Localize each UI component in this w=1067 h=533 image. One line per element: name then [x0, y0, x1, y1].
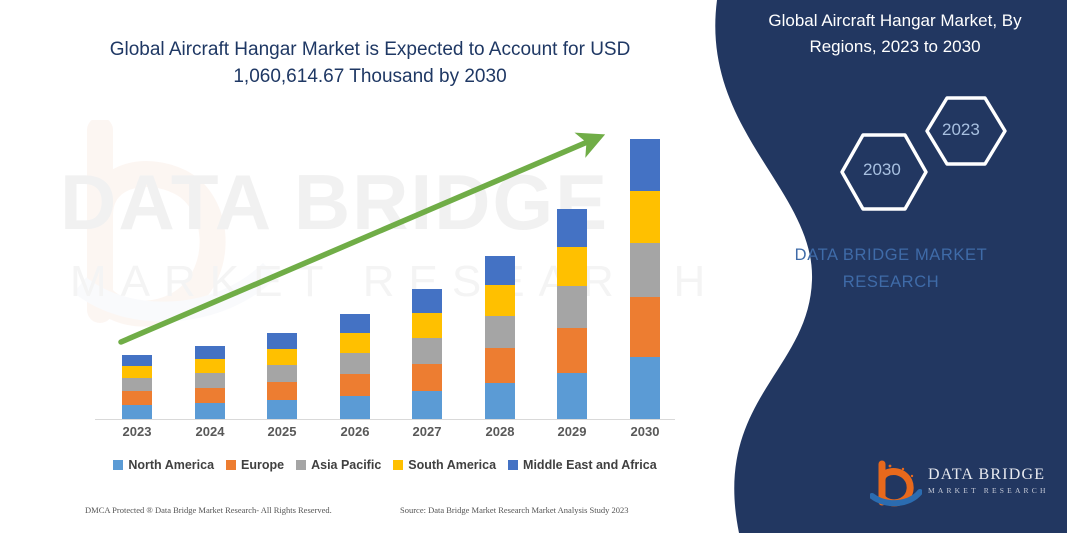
infographic-root: DATA BRIDGE MARKET RESEARCH Global Aircr…: [0, 0, 1067, 533]
brand-line-1: DATA BRIDGE MARKET: [795, 246, 988, 264]
bar-segment: [267, 382, 297, 400]
bar-segment: [485, 256, 515, 286]
chart-title: Global Aircraft Hangar Market is Expecte…: [60, 36, 680, 90]
logo-wordmark: DATA BRIDGE MARKET RESEARCH: [928, 466, 1049, 495]
hexagon-badges: 2023 2030: [825, 90, 1025, 220]
bar-segment: [557, 209, 587, 247]
legend-label: Middle East and Africa: [523, 458, 657, 472]
bar-segment: [557, 373, 587, 419]
bar-segment: [485, 383, 515, 419]
bar-segment: [195, 388, 225, 403]
bar-segment: [267, 400, 297, 419]
bar-segment: [340, 314, 370, 333]
bar-segment: [412, 289, 442, 313]
bar-group-2029: [557, 209, 587, 419]
bar-segment: [267, 349, 297, 365]
bar-segment: [340, 374, 370, 396]
chart-plot-area: [95, 120, 675, 420]
legend-swatch-icon: [393, 460, 403, 470]
bar-segment: [340, 396, 370, 419]
bar-segment: [195, 373, 225, 388]
x-axis-label-2028: 2028: [470, 424, 530, 439]
hexagon-outlines-icon: [825, 90, 1025, 220]
x-axis-label-2027: 2027: [397, 424, 457, 439]
right-panel-content: Global Aircraft Hangar Market, By Region…: [715, 0, 1067, 533]
bar-segment: [195, 359, 225, 373]
bar-segment: [412, 313, 442, 338]
bar-segment: [340, 333, 370, 353]
bar-segment: [122, 405, 152, 419]
bar-segment: [557, 286, 587, 328]
legend-label: Asia Pacific: [311, 458, 381, 472]
footer-copyright: DMCA Protected ® Data Bridge Market Rese…: [85, 505, 332, 515]
bar-segment: [195, 346, 225, 359]
legend-label: Europe: [241, 458, 284, 472]
bar-segment: [122, 355, 152, 366]
footer-source: Source: Data Bridge Market Research Mark…: [400, 505, 629, 515]
bar-segment: [630, 357, 660, 419]
legend-label: South America: [408, 458, 496, 472]
bar-segment: [412, 364, 442, 391]
legend-label: North America: [128, 458, 214, 472]
x-axis-label-2026: 2026: [325, 424, 385, 439]
bar-segment: [630, 191, 660, 243]
legend-item[interactable]: Middle East and Africa: [508, 458, 657, 472]
x-axis-label-2023: 2023: [107, 424, 167, 439]
bar-segment: [122, 391, 152, 405]
bar-group-2023: [122, 355, 152, 419]
bar-segment: [412, 338, 442, 364]
x-axis-line: [95, 419, 675, 420]
legend-swatch-icon: [296, 460, 306, 470]
bar-segment: [557, 247, 587, 287]
x-axis-label-2025: 2025: [252, 424, 312, 439]
bar-group-2028: [485, 256, 515, 419]
legend-item[interactable]: North America: [113, 458, 214, 472]
bar-segment: [485, 316, 515, 348]
bar-segment: [122, 378, 152, 391]
x-axis-labels: 20232024202520262027202820292030: [95, 424, 675, 444]
bar-group-2027: [412, 289, 442, 419]
bar-segment: [485, 285, 515, 316]
x-axis-label-2029: 2029: [542, 424, 602, 439]
bar-segment: [195, 403, 225, 419]
legend-swatch-icon: [226, 460, 236, 470]
legend-item[interactable]: Asia Pacific: [296, 458, 381, 472]
logo-line-1: DATA BRIDGE: [928, 466, 1049, 484]
chart-legend: North AmericaEuropeAsia PacificSouth Ame…: [95, 455, 675, 475]
bar-group-2026: [340, 314, 370, 419]
logo-bridge-b-icon: [870, 460, 922, 508]
bar-group-2030: [630, 139, 660, 419]
legend-swatch-icon: [508, 460, 518, 470]
left-chart-panel: DATA BRIDGE MARKET RESEARCH Global Aircr…: [0, 0, 740, 533]
footer-bar: DMCA Protected ® Data Bridge Market Rese…: [0, 505, 700, 525]
bar-segment: [267, 365, 297, 382]
logo-line-2: MARKET RESEARCH: [928, 486, 1049, 495]
brand-line-2: RESEARCH: [741, 269, 1041, 296]
legend-item[interactable]: South America: [393, 458, 496, 472]
legend-swatch-icon: [113, 460, 123, 470]
x-axis-label-2024: 2024: [180, 424, 240, 439]
bar-segment: [122, 366, 152, 378]
bar-segment: [412, 391, 442, 419]
bar-segment: [630, 139, 660, 191]
right-panel-title: Global Aircraft Hangar Market, By Region…: [735, 8, 1055, 60]
bar-group-2024: [195, 346, 225, 419]
brand-wordmark: DATA BRIDGE MARKET RESEARCH: [741, 242, 1041, 296]
bar-segment: [630, 243, 660, 298]
bar-series-container: [95, 120, 675, 419]
bar-segment: [557, 328, 587, 373]
bar-segment: [267, 333, 297, 349]
bar-segment: [485, 348, 515, 383]
hexagon-label-2023: 2023: [942, 120, 980, 140]
x-axis-label-2030: 2030: [615, 424, 675, 439]
hexagon-label-2030: 2030: [863, 160, 901, 180]
bar-group-2025: [267, 333, 297, 419]
company-logo: DATA BRIDGE MARKET RESEARCH: [870, 460, 1067, 510]
bar-segment: [630, 297, 660, 357]
legend-item[interactable]: Europe: [226, 458, 284, 472]
bar-segment: [340, 353, 370, 374]
